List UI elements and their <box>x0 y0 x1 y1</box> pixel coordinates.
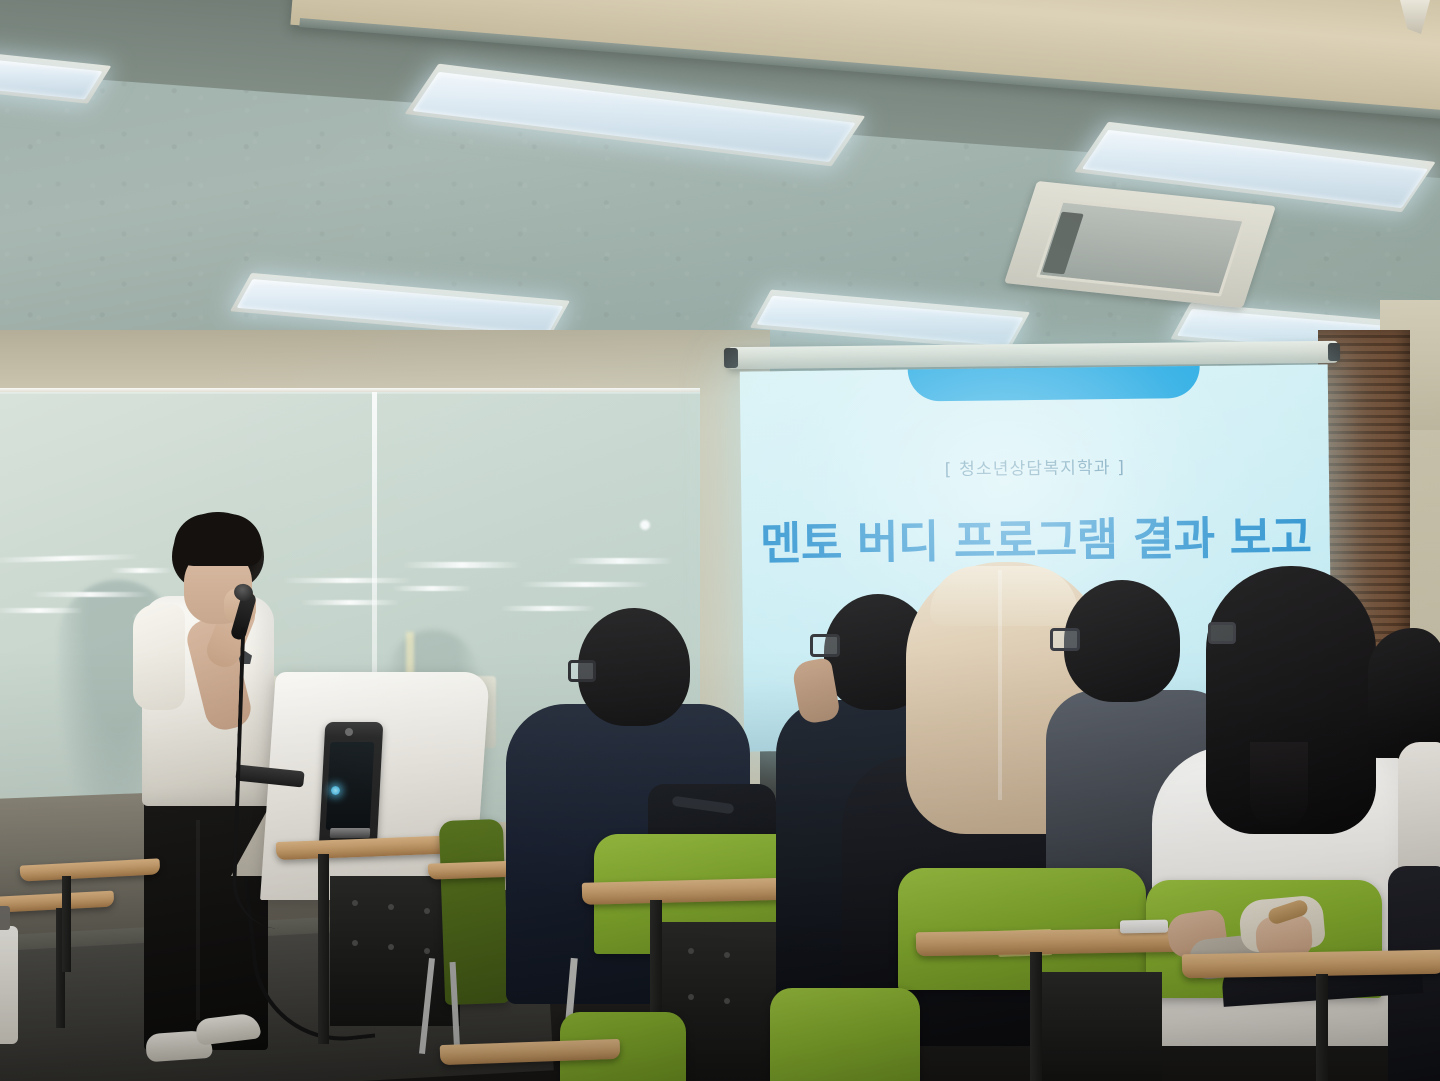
chair-back <box>770 988 920 1081</box>
podium-power-led-icon <box>331 786 340 795</box>
audience-person-hair-crown <box>930 566 1078 626</box>
glass-spot-highlight <box>640 520 650 530</box>
desk-panel-hole <box>688 994 694 1000</box>
wall-header-beam <box>0 330 770 396</box>
desk-modesty-panel <box>330 876 460 1026</box>
glass-light-reflection-6 <box>282 578 412 583</box>
podium-camera-icon <box>345 728 353 736</box>
glass-light-reflection-8 <box>402 562 522 568</box>
desk-panel-hole <box>688 948 694 954</box>
desk-top <box>1182 950 1440 979</box>
presenter-hair-fringe <box>174 514 262 566</box>
desk-leg <box>1030 952 1042 1081</box>
desk-panel-hole <box>724 998 730 1004</box>
presenter-sleeve <box>133 604 185 710</box>
podium-tray <box>330 828 371 838</box>
glass-light-reflection-7 <box>300 600 400 605</box>
glass-light-reflection-12 <box>520 582 650 587</box>
glass-partition-top-edge <box>0 388 700 394</box>
glass-light-reflection-3 <box>30 592 150 597</box>
glass-light-reflection-10 <box>500 606 596 611</box>
glass-light-reflection-9 <box>392 586 472 591</box>
glass-light-reflection-11 <box>566 558 674 564</box>
glasses-icon <box>568 660 596 682</box>
audience-person-head <box>1064 580 1180 702</box>
desk-leg <box>62 876 71 972</box>
glasses-icon <box>1208 622 1236 644</box>
desk-modesty-panel <box>1042 972 1162 1081</box>
presenter-trouser-fold <box>196 820 200 1020</box>
slide-accent-band <box>907 364 1200 401</box>
audience-person-hair-strand <box>1250 742 1308 828</box>
desk-panel-hole <box>424 908 430 914</box>
sanitizer-pump <box>0 906 10 930</box>
desk-leg <box>318 854 329 1044</box>
smartphone-on-desk <box>1120 920 1168 934</box>
desk-panel-hole <box>352 940 358 946</box>
glass-light-reflection-2 <box>110 568 172 573</box>
audience-person-hair-long <box>1368 628 1440 758</box>
glass-light-reflection-4 <box>0 608 84 613</box>
glasses-icon <box>810 634 840 657</box>
desk-panel-hole <box>388 904 394 910</box>
projector-screen-roller-bracket-right <box>1328 343 1340 361</box>
desk-panel-hole <box>424 948 430 954</box>
hair-part-line <box>998 570 1002 800</box>
desk-panel-hole <box>724 952 730 958</box>
desk-panel-hole <box>352 900 358 906</box>
lecture-hall-photo: [ 청소년상담복지학과 ] 멘토 버디 프로그램 결과 보고 <box>0 0 1440 1081</box>
desk-leg <box>1316 974 1328 1081</box>
sanitizer-bottle <box>0 926 18 1044</box>
desk-panel-hole <box>388 944 394 950</box>
glasses-icon <box>1050 628 1080 651</box>
slide-title: 멘토 버디 프로그램 결과 보고 <box>741 500 1330 572</box>
projector-screen-roller-bracket-left <box>724 348 738 368</box>
slide-subtitle: [ 청소년상담복지학과 ] <box>741 450 1329 482</box>
